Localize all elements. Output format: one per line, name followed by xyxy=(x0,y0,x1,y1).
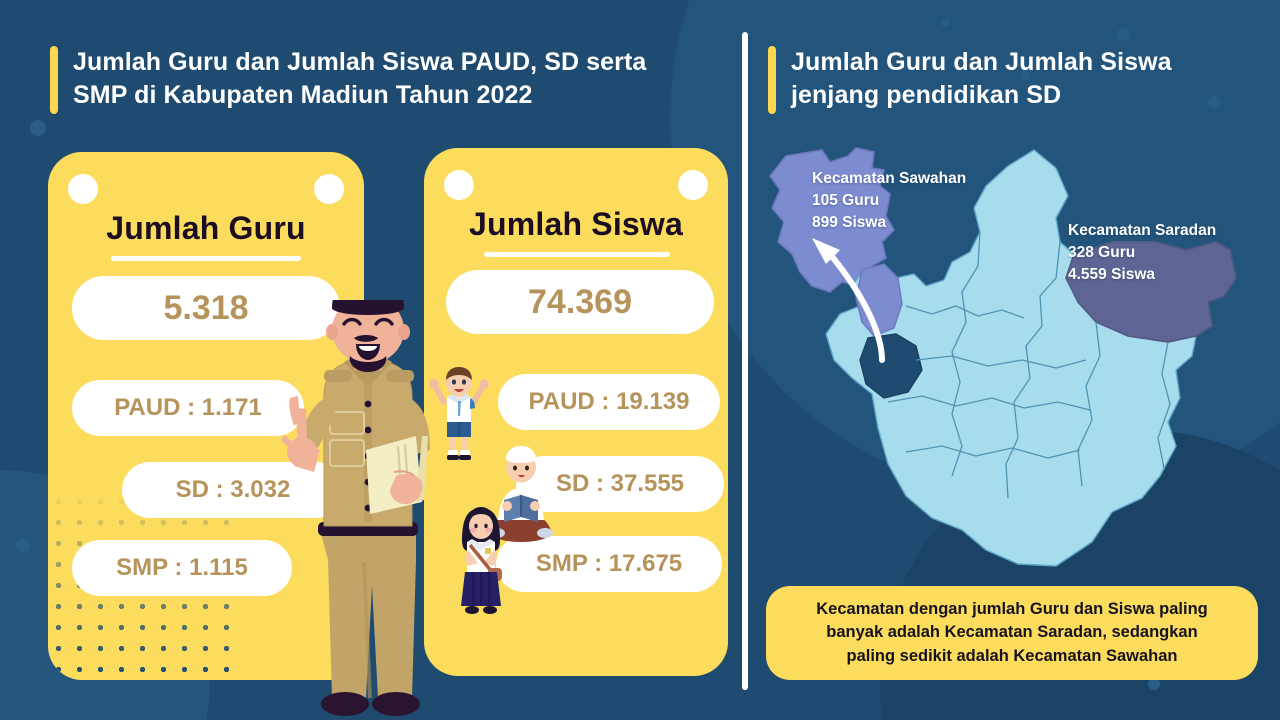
card-siswa-total: 74.369 xyxy=(446,270,714,334)
card-siswa-item-smp: SMP : 17.675 xyxy=(496,536,722,592)
teacher-illustration xyxy=(258,300,478,720)
background-dot xyxy=(16,538,30,552)
background-dot xyxy=(1117,28,1130,41)
card-hole-icon xyxy=(68,174,98,204)
background-dot xyxy=(30,120,46,136)
infographic-canvas: Jumlah Guru dan Jumlah Siswa PAUD, SD se… xyxy=(0,0,1280,720)
left-panel-title-text: Jumlah Guru dan Jumlah Siswa PAUD, SD se… xyxy=(73,46,646,112)
card-siswa-item-paud: PAUD : 19.139 xyxy=(498,374,720,430)
card-title-underline xyxy=(111,256,301,261)
title-accent-bar xyxy=(768,46,776,114)
map-kabupaten-madiun[interactable]: Kecamatan Sawahan 105 Guru 899 Siswa Kec… xyxy=(756,146,1268,576)
panel-divider xyxy=(742,32,748,690)
card-guru-title: Jumlah Guru xyxy=(48,210,364,247)
map-summary-note: Kecamatan dengan jumlah Guru dan Siswa p… xyxy=(766,586,1258,680)
map-label-sawahan: Kecamatan Sawahan 105 Guru 899 Siswa xyxy=(812,168,966,234)
card-hole-icon xyxy=(314,174,344,204)
title-accent-bar xyxy=(50,46,58,114)
card-siswa-title: Jumlah Siswa xyxy=(424,206,728,243)
right-panel-title-text: Jumlah Guru dan Jumlah Siswa jenjang pen… xyxy=(791,46,1172,112)
card-hole-icon xyxy=(678,170,708,200)
card-title-underline xyxy=(484,252,670,257)
background-dot xyxy=(941,18,950,27)
map-label-saradan: Kecamatan Saradan 328 Guru 4.559 Siswa xyxy=(1068,220,1216,286)
right-panel-title: Jumlah Guru dan Jumlah Siswa jenjang pen… xyxy=(768,46,1238,114)
left-panel-title: Jumlah Guru dan Jumlah Siswa PAUD, SD se… xyxy=(50,46,710,114)
card-hole-icon xyxy=(444,170,474,200)
